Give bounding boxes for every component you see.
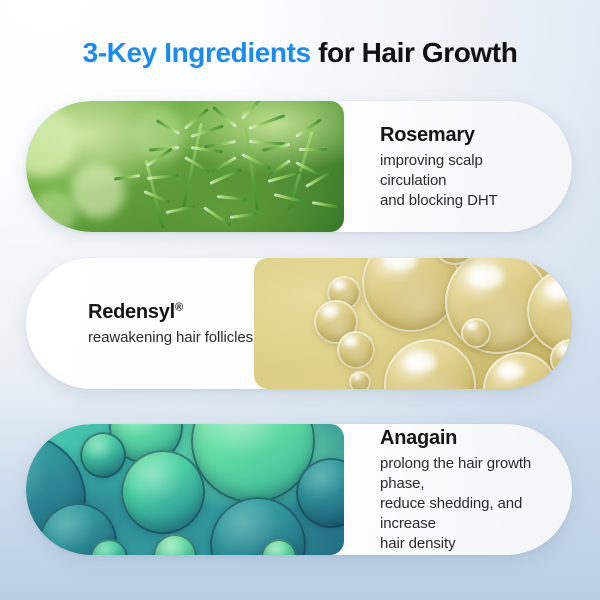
ingredient-name: Anagain (380, 427, 457, 449)
oil-bubble (349, 371, 371, 389)
rosemary-needle (241, 101, 267, 119)
bokeh-dot (26, 106, 77, 176)
rosemary-needle (248, 114, 285, 130)
ingredient-card-text: Anagain prolong the hair growth phase, r… (380, 424, 550, 555)
rosemary-needle (242, 154, 272, 171)
ingredient-card-anagain[interactable]: Anagain prolong the hair growth phase, r… (26, 424, 572, 555)
ingredient-card-redensyl[interactable]: Redensyl® reawakening hair follicles (26, 258, 572, 389)
rosemary-needle (184, 108, 209, 130)
bokeh-dot (32, 190, 76, 232)
rosemary-needle (217, 195, 247, 201)
oil-bubble (483, 352, 557, 389)
page-title: 3-Key Ingredients for Hair Growth (0, 36, 600, 70)
ingredient-description: reawakening hair follicles (88, 328, 338, 348)
ingredient-name: Rosemary (380, 124, 475, 146)
rosemary-needle (184, 156, 210, 173)
teal-oil-bubbles-photo (26, 424, 344, 555)
oil-bubble (121, 450, 205, 534)
ingredient-card-text: Redensyl® reawakening hair follicles (88, 258, 338, 389)
rosemary-needle (299, 148, 327, 151)
rosemary-needle (191, 125, 224, 138)
ingredient-heading: Anagain (380, 426, 550, 451)
ingredient-description: improving scalp circulation and blocking… (380, 151, 550, 211)
oil-bubble (153, 534, 197, 555)
rosemary-needle (229, 212, 257, 219)
oil-bubble (461, 318, 491, 348)
rosemary-needle (204, 140, 236, 149)
ingredients-infographic: 3-Key Ingredients for Hair Growth (0, 0, 600, 600)
ingredient-card-rosemary[interactable]: Rosemary improving scalp circulation and… (26, 101, 572, 232)
rosemary-needle (166, 205, 196, 214)
page-title-plain: for Hair Growth (311, 37, 518, 68)
rosemary-needle (269, 159, 291, 175)
rosemary-needle (203, 206, 231, 226)
rosemary-needle (274, 193, 304, 203)
ingredient-description: prolong the hair growth phase, reduce sh… (380, 454, 550, 554)
bokeh-dot (71, 164, 125, 218)
page-title-accent: 3-Key Ingredients (83, 37, 311, 68)
rosemary-needle (212, 106, 237, 128)
oil-bubble (80, 432, 126, 478)
ingredient-name: Redensyl (88, 301, 175, 323)
ingredient-heading: Rosemary (380, 123, 550, 148)
ingredient-heading: Redensyl® (88, 300, 338, 325)
ingredient-card-text: Rosemary improving scalp circulation and… (380, 101, 550, 232)
teal-oil-artwork (26, 424, 344, 555)
trademark-mark: ® (175, 301, 183, 313)
oil-bubble (337, 331, 375, 369)
oil-bubble (384, 339, 476, 389)
rosemary-needle (147, 174, 179, 180)
rosemary-plant-photo (26, 101, 344, 232)
rosemary-artwork (26, 101, 344, 232)
rosemary-needle (312, 201, 338, 208)
